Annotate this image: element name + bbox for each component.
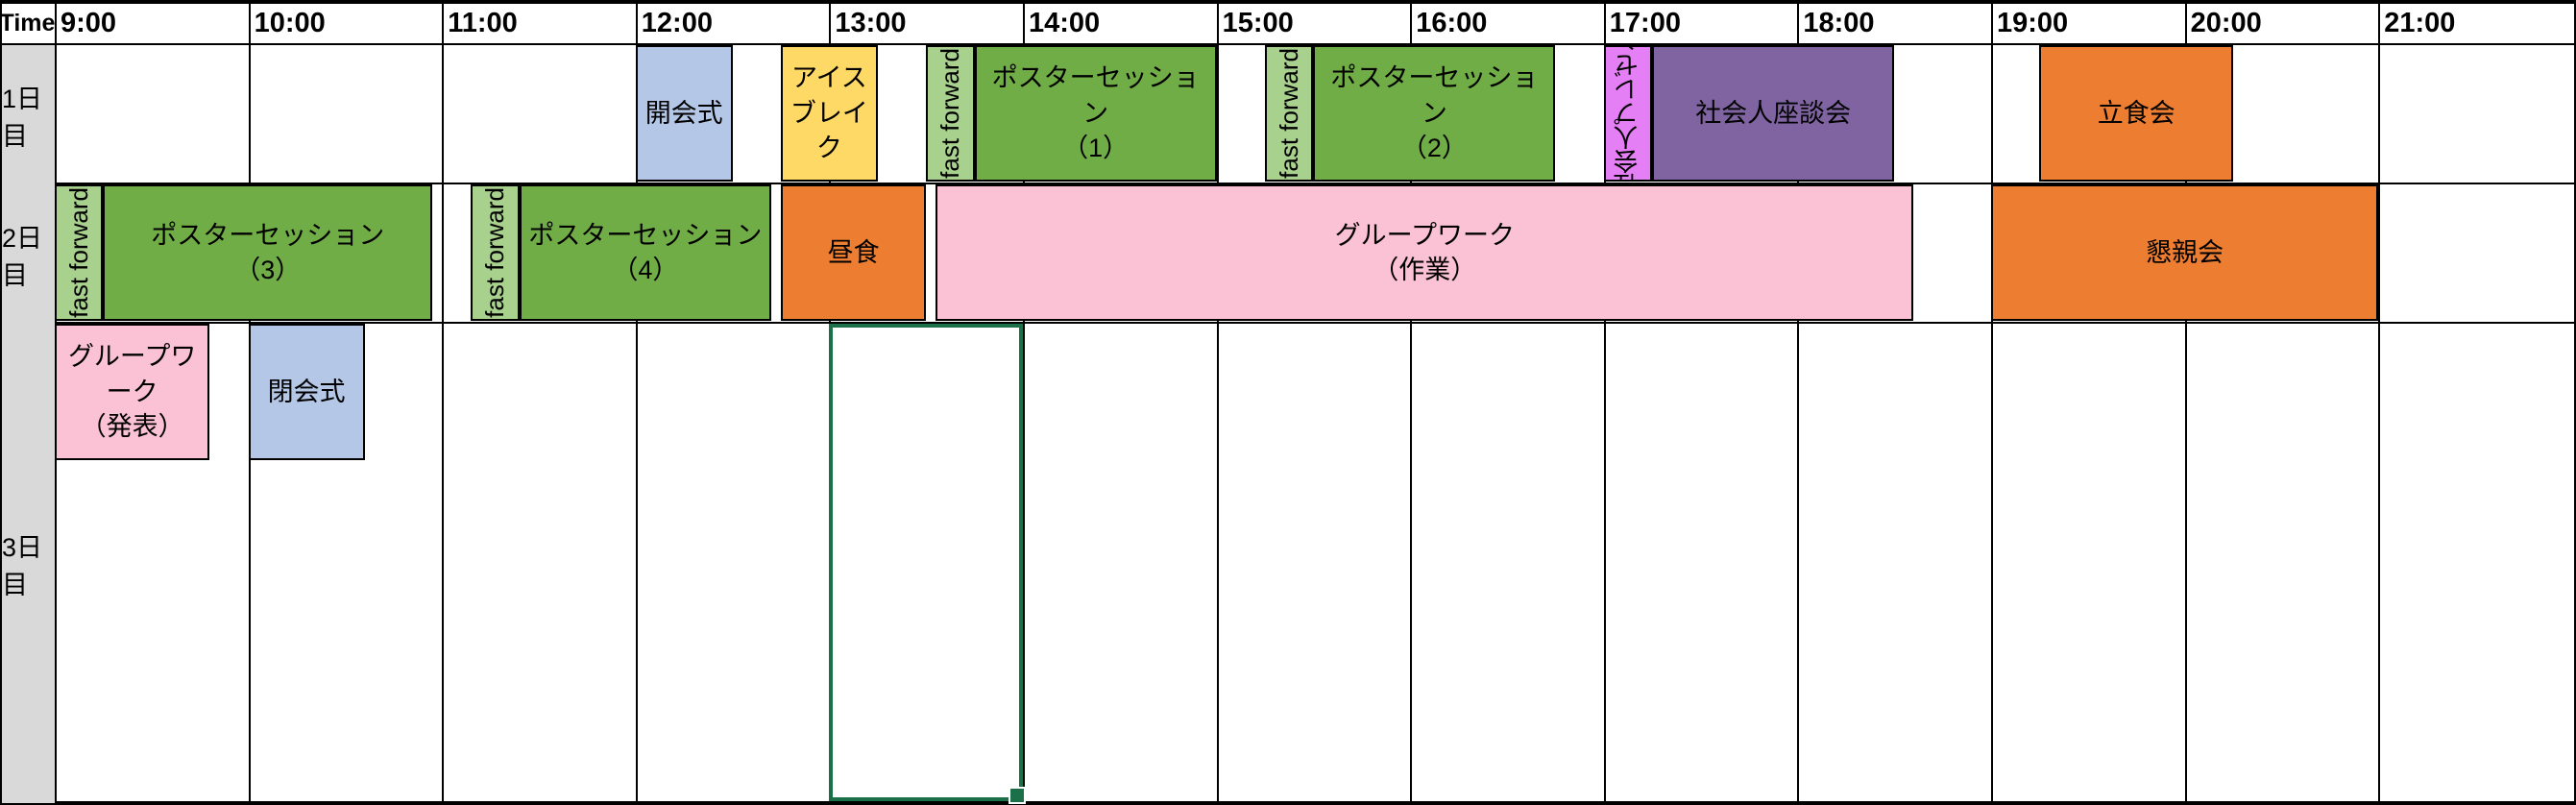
event-block[interactable]: 閉会式	[249, 324, 365, 460]
event-label: fast forward	[478, 187, 512, 318]
time-header-21-00: 21:00	[2378, 3, 2572, 43]
event-label: 社会人プレゼン	[1611, 45, 1644, 182]
event-label: ポスターセッション （4）	[524, 218, 766, 288]
event-block[interactable]: 立食会	[2039, 45, 2233, 182]
event-label: fast forward	[934, 48, 967, 179]
time-header-13-00: 13:00	[829, 3, 1023, 43]
time-header-10-00: 10:00	[249, 3, 443, 43]
event-label: グループワーク （発表）	[57, 339, 207, 444]
event-block[interactable]: 懇親会	[1991, 184, 2378, 321]
event-label: ポスターセッション （1）	[977, 61, 1215, 165]
event-block[interactable]: 開会式	[636, 45, 733, 182]
time-header-17-00: 17:00	[1604, 3, 1798, 43]
event-label: グループワーク （作業）	[1331, 218, 1519, 288]
day-label-1: 1日目	[2, 45, 55, 184]
time-header-14-00: 14:00	[1023, 3, 1217, 43]
grid-column-line	[442, 0, 444, 805]
event-block[interactable]: 社会人プレゼン	[1604, 45, 1652, 182]
event-block[interactable]: グループワーク （発表）	[55, 324, 209, 460]
event-label: 社会人座談会	[1691, 96, 1855, 131]
event-label: アイス ブレイク	[783, 61, 876, 165]
time-header-12-00: 12:00	[636, 3, 830, 43]
event-label: ポスターセッション （2）	[1315, 61, 1553, 165]
event-block[interactable]: fast forward	[1265, 45, 1313, 182]
event-block[interactable]: 社会人座談会	[1652, 45, 1894, 182]
event-label: fast forward	[1273, 48, 1306, 179]
time-header-20-00: 20:00	[2185, 3, 2379, 43]
time-header-9-00: 9:00	[55, 3, 249, 43]
event-block[interactable]: ポスターセッション （2）	[1313, 45, 1555, 182]
event-label: 懇親会	[2142, 235, 2227, 270]
grid-column-line	[1217, 0, 1219, 805]
time-header-16-00: 16:00	[1410, 3, 1604, 43]
day-label-3: 3日目	[2, 324, 55, 803]
time-header-label: Time	[0, 3, 55, 43]
event-block[interactable]: ポスターセッション （4）	[520, 184, 771, 321]
event-label: 閉会式	[264, 375, 350, 409]
event-label: fast forward	[62, 187, 96, 318]
grid-row-line	[0, 322, 2576, 324]
time-header-11-00: 11:00	[442, 3, 636, 43]
grid-row-line	[0, 801, 2576, 805]
grid-column-line	[2378, 0, 2380, 805]
event-label: 立食会	[2094, 96, 2179, 131]
event-label: 昼食	[824, 235, 884, 270]
time-header-18-00: 18:00	[1797, 3, 1991, 43]
day-label-2: 2日目	[2, 184, 55, 324]
time-header-19-00: 19:00	[1991, 3, 2185, 43]
event-block[interactable]: 昼食	[781, 184, 926, 321]
event-label: ポスターセッション （3）	[147, 218, 388, 288]
event-block[interactable]: ポスターセッション （1）	[975, 45, 1217, 182]
event-label: 開会式	[642, 96, 727, 131]
event-block[interactable]: fast forward	[55, 184, 103, 321]
time-header-15-00: 15:00	[1217, 3, 1411, 43]
event-block[interactable]: アイス ブレイク	[781, 45, 878, 182]
event-block[interactable]: fast forward	[471, 184, 519, 321]
grid-column-line	[1991, 0, 1993, 805]
event-block[interactable]: fast forward	[926, 45, 974, 182]
schedule-timetable: Time9:0010:0011:0012:0013:0014:0015:0016…	[0, 0, 2576, 805]
active-cell-selection[interactable]	[829, 324, 1023, 801]
event-block[interactable]: ポスターセッション （3）	[103, 184, 432, 321]
event-block[interactable]: グループワーク （作業）	[936, 184, 1913, 321]
